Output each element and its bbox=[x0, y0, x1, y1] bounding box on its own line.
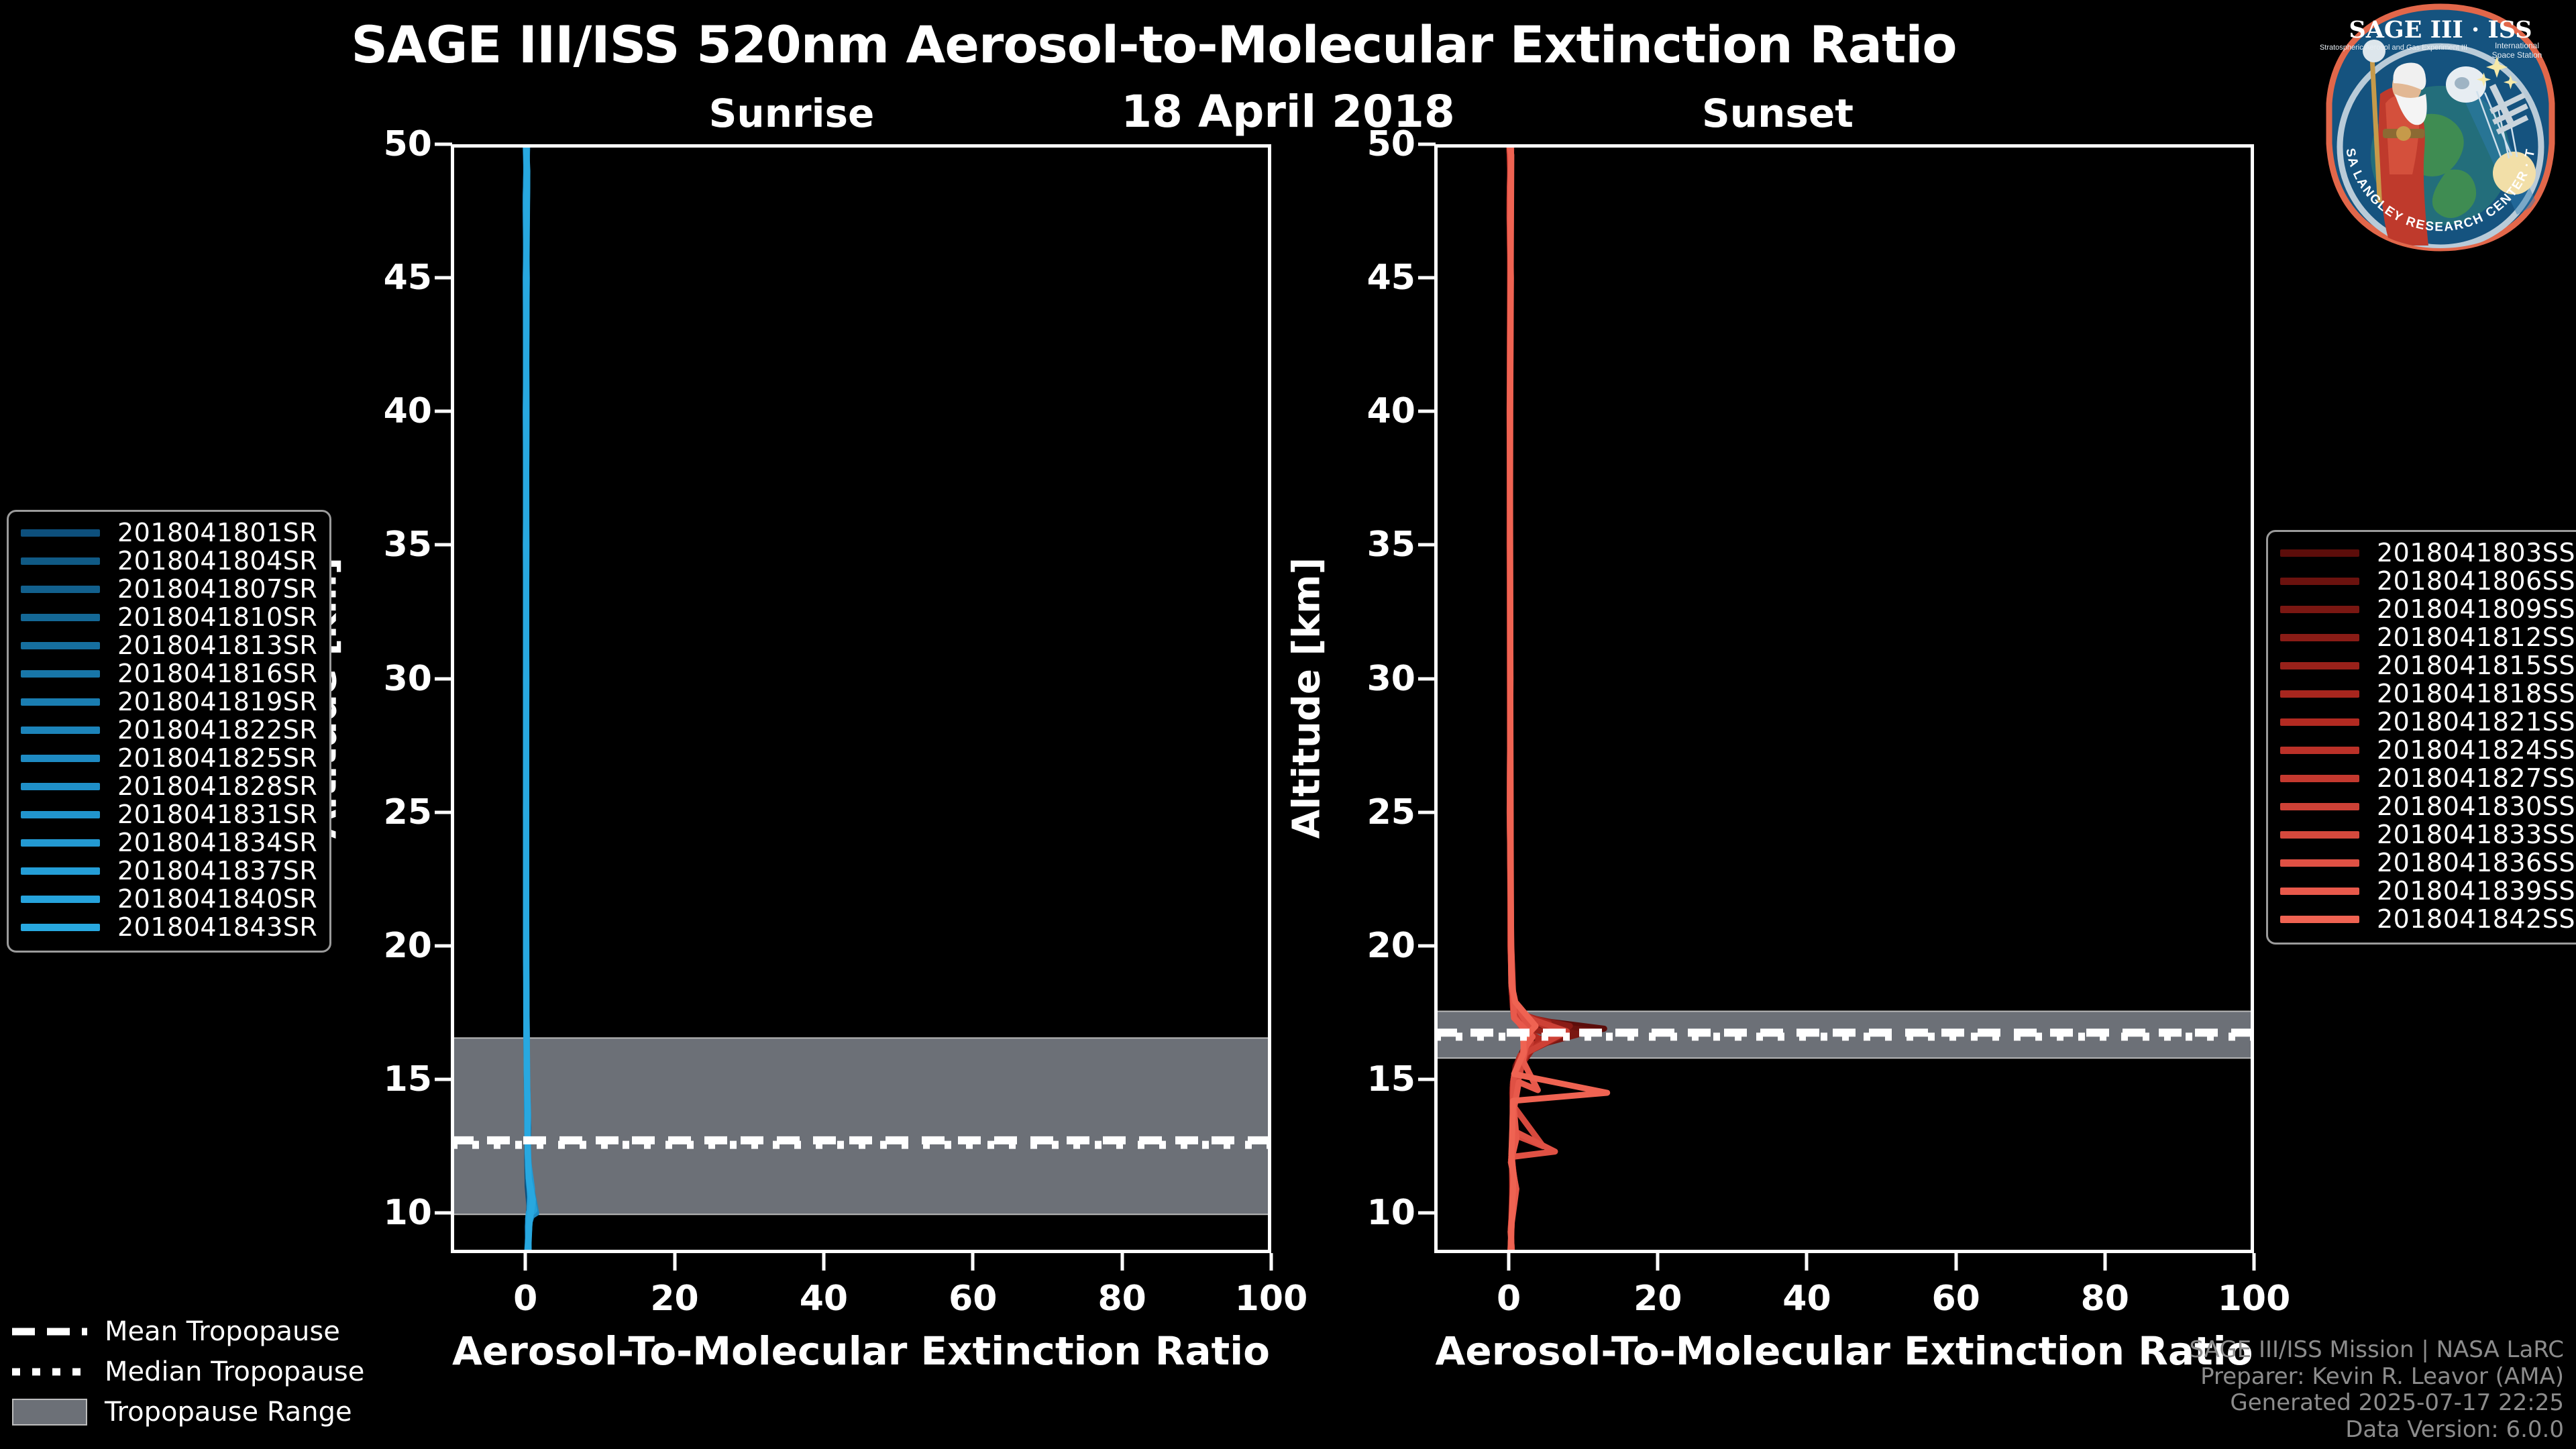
patch-title: SAGE III · ISS bbox=[2349, 16, 2532, 44]
x-axis-tick-label: 20 bbox=[618, 1279, 732, 1319]
legend-color-swatch bbox=[21, 614, 100, 621]
legend-item-label: 2018041830SS bbox=[2377, 792, 2575, 821]
legend-item-label: 2018041842SS bbox=[2377, 904, 2575, 934]
legend-item[interactable]: 2018041812SS bbox=[2280, 623, 2575, 651]
x-axis-tick-mark bbox=[1656, 1253, 1660, 1271]
legend-color-swatch bbox=[21, 755, 100, 762]
legend-item[interactable]: 2018041830SS bbox=[2280, 792, 2575, 820]
y-axis-tick-mark bbox=[1418, 944, 1436, 947]
credits-generated: Generated 2025-07-17 22:25 bbox=[2189, 1390, 2564, 1417]
x-axis-tick-label: 80 bbox=[1065, 1279, 1179, 1319]
legend-item[interactable]: 2018041836SS bbox=[2280, 849, 2575, 877]
x-axis-tick-mark bbox=[1507, 1253, 1511, 1271]
y-axis-tick-label: 15 bbox=[1335, 1059, 1415, 1099]
y-axis-tick-mark bbox=[435, 944, 452, 947]
legend-item-label: 2018041813SR bbox=[117, 631, 317, 660]
legend-item-label: 2018041836SS bbox=[2377, 848, 2575, 877]
x-axis-title: Aerosol-To-Molecular Extinction Ratio bbox=[1434, 1328, 2254, 1374]
y-axis-tick-mark bbox=[435, 1078, 452, 1081]
legend-item-label: 2018041843SR bbox=[117, 912, 317, 942]
legend-color-swatch bbox=[21, 642, 100, 649]
legend-color-swatch bbox=[2280, 690, 2359, 698]
legend-color-swatch bbox=[2280, 888, 2359, 895]
legend-color-swatch bbox=[2280, 634, 2359, 641]
legend-item[interactable]: 2018041810SR bbox=[21, 603, 317, 631]
legend-item-label: 2018041825SR bbox=[117, 743, 317, 773]
y-axis-tick-mark bbox=[1418, 1078, 1436, 1081]
legend-item[interactable]: 2018041804SR bbox=[21, 547, 317, 575]
legend-item-label: 2018041839SS bbox=[2377, 876, 2575, 906]
y-axis-tick-label: 15 bbox=[352, 1059, 432, 1099]
credits-preparer: Preparer: Kevin R. Leavor (AMA) bbox=[2189, 1364, 2564, 1391]
sunset-legend[interactable]: 2018041803SS2018041806SS2018041809SS2018… bbox=[2266, 530, 2576, 945]
y-axis-tick-label: 50 bbox=[1335, 124, 1415, 164]
x-axis-tick-label: 20 bbox=[1601, 1279, 1715, 1319]
y-axis-tick-label: 30 bbox=[1335, 659, 1415, 699]
legend-item[interactable]: 2018041840SR bbox=[21, 885, 317, 913]
legend-item[interactable]: 2018041818SS bbox=[2280, 680, 2575, 708]
legend-item-label: 2018041824SS bbox=[2377, 735, 2575, 765]
x-axis-tick-label: 100 bbox=[1214, 1279, 1328, 1319]
legend-color-swatch bbox=[2280, 859, 2359, 867]
x-axis-title: Aerosol-To-Molecular Extinction Ratio bbox=[451, 1328, 1271, 1374]
patch-subtitle-right-1: International bbox=[2495, 41, 2539, 50]
legend-item-label: 2018041834SR bbox=[117, 828, 317, 857]
legend-item-label: 2018041821SS bbox=[2377, 707, 2575, 737]
credits-mission: SAGE III/ISS Mission | NASA LaRC bbox=[2189, 1337, 2564, 1364]
x-axis-tick-mark bbox=[524, 1253, 527, 1271]
legend-item[interactable]: 2018041824SS bbox=[2280, 736, 2575, 764]
x-axis-tick-mark bbox=[2103, 1253, 2106, 1271]
y-axis-tick-label: 25 bbox=[352, 792, 432, 833]
x-axis-tick-mark bbox=[1270, 1253, 1273, 1271]
y-axis-tick-label: 30 bbox=[352, 659, 432, 699]
legend-color-swatch bbox=[21, 586, 100, 593]
y-axis-tick-label: 10 bbox=[352, 1193, 432, 1233]
legend-item-label: 2018041833SS bbox=[2377, 820, 2575, 849]
legend-color-swatch bbox=[2280, 775, 2359, 782]
legend-color-swatch bbox=[2280, 662, 2359, 669]
legend-color-swatch bbox=[21, 698, 100, 706]
x-axis-tick-label: 60 bbox=[916, 1279, 1030, 1319]
x-axis-tick-mark bbox=[822, 1253, 825, 1271]
x-axis-tick-label: 0 bbox=[1452, 1279, 1566, 1319]
legend-item[interactable]: 2018041842SS bbox=[2280, 905, 2575, 933]
legend-color-swatch bbox=[2280, 578, 2359, 585]
x-axis-tick-mark bbox=[673, 1253, 676, 1271]
sage-iii-iss-mission-patch-logo: SAGE III · ISS Stratospheric Aerosol and… bbox=[2316, 3, 2565, 252]
legend-color-swatch bbox=[21, 670, 100, 678]
x-axis-tick-mark bbox=[1120, 1253, 1124, 1271]
mean-tropopause-label: Mean Tropopause bbox=[105, 1316, 340, 1347]
axis-layer: 101520253035404550020406080100Altitude [… bbox=[0, 0, 2576, 1449]
legend-item-label: 2018041819SR bbox=[117, 687, 317, 716]
tropopause-legend: Mean Tropopause Median Tropopause Tropop… bbox=[12, 1311, 364, 1432]
legend-item-label: 2018041816SR bbox=[117, 659, 317, 688]
y-axis-tick-label: 50 bbox=[352, 124, 432, 164]
x-axis-tick-mark bbox=[1805, 1253, 1809, 1271]
y-axis-tick-label: 20 bbox=[1335, 926, 1415, 966]
y-axis-tick-label: 40 bbox=[1335, 391, 1415, 431]
y-axis-tick-label: 45 bbox=[352, 258, 432, 298]
legend-item-label: 2018041827SS bbox=[2377, 763, 2575, 793]
y-axis-tick-mark bbox=[1418, 543, 1436, 547]
y-axis-tick-mark bbox=[1418, 1212, 1436, 1215]
y-axis-tick-mark bbox=[1418, 410, 1436, 413]
legend-color-swatch bbox=[21, 896, 100, 903]
legend-color-swatch bbox=[2280, 831, 2359, 839]
dotted-line-icon bbox=[12, 1363, 87, 1381]
legend-color-swatch bbox=[2280, 549, 2359, 557]
dashed-line-icon bbox=[12, 1323, 87, 1340]
legend-item[interactable]: 2018041815SS bbox=[2280, 651, 2575, 680]
y-axis-tick-mark bbox=[435, 276, 452, 280]
legend-item-label: 2018041803SS bbox=[2377, 538, 2575, 568]
legend-item[interactable]: 2018041821SS bbox=[2280, 708, 2575, 736]
legend-item[interactable]: 2018041807SR bbox=[21, 575, 317, 603]
y-axis-tick-label: 35 bbox=[1335, 525, 1415, 565]
y-axis-tick-mark bbox=[435, 677, 452, 680]
legend-color-swatch bbox=[2280, 718, 2359, 726]
y-axis-title: Altitude [km] bbox=[1285, 463, 1329, 932]
legend-item[interactable]: 2018041827SS bbox=[2280, 764, 2575, 792]
legend-color-swatch bbox=[2280, 747, 2359, 754]
x-axis-tick-mark bbox=[1954, 1253, 1957, 1271]
legend-item[interactable]: 2018041843SR bbox=[21, 913, 317, 941]
x-axis-tick-label: 0 bbox=[468, 1279, 582, 1319]
legend-item[interactable]: 2018041837SR bbox=[21, 857, 317, 885]
y-axis-tick-label: 20 bbox=[352, 926, 432, 966]
legend-item[interactable]: 2018041833SS bbox=[2280, 820, 2575, 849]
legend-color-swatch bbox=[21, 811, 100, 818]
legend-item-label: 2018041831SR bbox=[117, 800, 317, 829]
y-axis-tick-label: 10 bbox=[1335, 1193, 1415, 1233]
legend-item[interactable]: 2018041816SR bbox=[21, 659, 317, 688]
legend-color-swatch bbox=[21, 727, 100, 734]
legend-color-swatch bbox=[21, 557, 100, 565]
patch-subtitle-left: Stratospheric Aerosol and Gas Experiment… bbox=[2320, 44, 2467, 52]
x-axis-tick-label: 40 bbox=[767, 1279, 881, 1319]
legend-item[interactable]: 2018041803SS bbox=[2280, 539, 2575, 567]
legend-item-label: 2018041807SR bbox=[117, 574, 317, 604]
legend-item[interactable]: 2018041834SR bbox=[21, 828, 317, 857]
legend-item[interactable]: 2018041828SR bbox=[21, 772, 317, 800]
y-axis-tick-mark bbox=[435, 543, 452, 547]
x-axis-tick-mark bbox=[2253, 1253, 2256, 1271]
legend-item-label: 2018041840SR bbox=[117, 884, 317, 914]
sunrise-legend[interactable]: 2018041801SR2018041804SR2018041807SR2018… bbox=[7, 510, 331, 953]
legend-item-label: 2018041804SR bbox=[117, 546, 317, 576]
y-axis-tick-label: 25 bbox=[1335, 792, 1415, 833]
legend-item-label: 2018041818SS bbox=[2377, 679, 2575, 708]
legend-item[interactable]: 2018041822SR bbox=[21, 716, 317, 744]
legend-item[interactable]: 2018041801SR bbox=[21, 519, 317, 547]
legend-color-swatch bbox=[21, 867, 100, 875]
y-axis-tick-mark bbox=[435, 1212, 452, 1215]
legend-item-label: 2018041806SS bbox=[2377, 566, 2575, 596]
legend-color-swatch bbox=[21, 924, 100, 931]
legend-item-label: 2018041810SR bbox=[117, 602, 317, 632]
legend-item-mean-tropopause: Mean Tropopause bbox=[12, 1311, 364, 1352]
y-axis-tick-mark bbox=[1418, 143, 1436, 146]
y-axis-tick-mark bbox=[435, 810, 452, 814]
legend-item[interactable]: 2018041825SR bbox=[21, 744, 317, 772]
y-axis-tick-mark bbox=[1418, 677, 1436, 680]
legend-color-swatch bbox=[21, 529, 100, 537]
legend-color-swatch bbox=[21, 783, 100, 790]
y-axis-tick-mark bbox=[435, 143, 452, 146]
x-axis-tick-label: 40 bbox=[1750, 1279, 1864, 1319]
legend-item-label: 2018041815SS bbox=[2377, 651, 2575, 680]
legend-color-swatch bbox=[2280, 606, 2359, 613]
legend-item-label: 2018041812SS bbox=[2377, 623, 2575, 652]
x-axis-tick-label: 100 bbox=[2197, 1279, 2311, 1319]
legend-item-label: 2018041809SS bbox=[2377, 594, 2575, 624]
y-axis-tick-label: 35 bbox=[352, 525, 432, 565]
y-axis-tick-label: 40 bbox=[352, 391, 432, 431]
legend-color-swatch bbox=[2280, 803, 2359, 810]
legend-item[interactable]: 2018041813SR bbox=[21, 631, 317, 659]
legend-item[interactable]: 2018041831SR bbox=[21, 800, 317, 828]
legend-item-label: 2018041837SR bbox=[117, 856, 317, 885]
legend-item-median-tropopause: Median Tropopause bbox=[12, 1352, 364, 1392]
y-axis-tick-label: 45 bbox=[1335, 258, 1415, 298]
shaded-band-icon bbox=[12, 1403, 87, 1421]
legend-item[interactable]: 2018041809SS bbox=[2280, 595, 2575, 623]
y-axis-tick-mark bbox=[1418, 810, 1436, 814]
x-axis-tick-label: 80 bbox=[2048, 1279, 2162, 1319]
legend-color-swatch bbox=[2280, 916, 2359, 923]
legend-item-label: 2018041828SR bbox=[117, 771, 317, 801]
legend-color-swatch bbox=[21, 839, 100, 847]
legend-item[interactable]: 2018041806SS bbox=[2280, 567, 2575, 595]
legend-item-label: 2018041801SR bbox=[117, 518, 317, 547]
legend-item[interactable]: 2018041839SS bbox=[2280, 877, 2575, 905]
patch-subtitle-right-2: Space Station bbox=[2492, 50, 2542, 60]
credits-data-version: Data Version: 6.0.0 bbox=[2189, 1417, 2564, 1444]
tropopause-range-label: Tropopause Range bbox=[105, 1397, 352, 1428]
y-axis-tick-mark bbox=[1418, 276, 1436, 280]
credits-block: SAGE III/ISS Mission | NASA LaRC Prepare… bbox=[2189, 1337, 2564, 1444]
y-axis-tick-mark bbox=[435, 410, 452, 413]
median-tropopause-label: Median Tropopause bbox=[105, 1356, 364, 1387]
x-axis-tick-label: 60 bbox=[1899, 1279, 2013, 1319]
x-axis-tick-mark bbox=[971, 1253, 975, 1271]
legend-item-tropopause-range: Tropopause Range bbox=[12, 1392, 364, 1432]
legend-item[interactable]: 2018041819SR bbox=[21, 688, 317, 716]
legend-item-label: 2018041822SR bbox=[117, 715, 317, 745]
